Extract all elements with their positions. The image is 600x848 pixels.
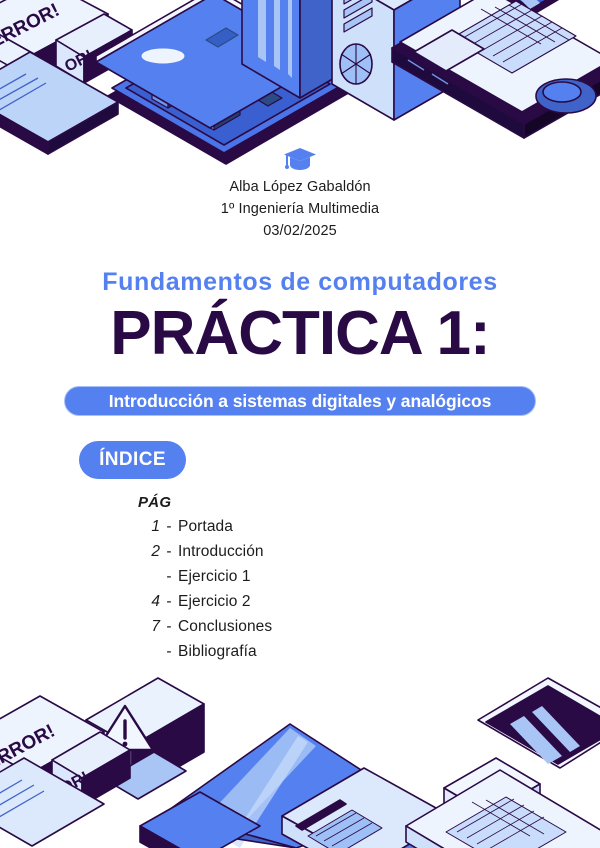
bottom-illustration-banner: ERROR! OR! — [0, 676, 600, 848]
list-item: 7 - Conclusiones — [136, 618, 456, 643]
course-title: Fundamentos de computadores — [0, 268, 600, 297]
header-block: Alba López Gabaldón 1º Ingeniería Multim… — [0, 146, 600, 242]
error-monitor-top: ERROR! OR! — [0, 0, 132, 154]
index-page-number: 2 — [136, 543, 160, 561]
index-entry-label: Introducción — [178, 543, 264, 561]
document-date: 03/02/2025 — [0, 220, 600, 242]
cover-page: ERROR! OR! — [0, 0, 600, 848]
index-dash: - — [160, 518, 178, 536]
index-entry-label: Ejercicio 2 — [178, 593, 251, 611]
index-dash: - — [160, 593, 178, 611]
index-page-number: 7 — [136, 618, 160, 636]
index-entry-label: Portada — [178, 518, 233, 536]
index-dash: - — [160, 543, 178, 561]
list-item: 1 - Portada — [136, 518, 456, 543]
index-entry-label: Ejercicio 1 — [178, 568, 251, 586]
index-entry-label: Conclusiones — [178, 618, 272, 636]
index-list: PÁG 1 - Portada 2 - Introducción - Ejerc… — [136, 494, 456, 668]
index-dash: - — [160, 618, 178, 636]
graduation-cap-icon — [283, 146, 317, 172]
author-name: Alba López Gabaldón — [0, 176, 600, 198]
list-item: - Bibliografía — [136, 643, 456, 668]
subtitle-badge: Introducción a sistemas digitales y anal… — [64, 386, 536, 416]
index-page-number: 4 — [136, 593, 160, 611]
list-item: 4 - Ejercicio 2 — [136, 593, 456, 618]
index-badge: ÍNDICE — [79, 441, 186, 479]
page-title: PRÁCTICA 1: — [0, 298, 600, 370]
index-dash: - — [160, 643, 178, 661]
list-item: 2 - Introducción — [136, 543, 456, 568]
page-column-header: PÁG — [136, 494, 456, 511]
index-dash: - — [160, 568, 178, 586]
index-page-number: 1 — [136, 518, 160, 536]
list-item: - Ejercicio 1 — [136, 568, 456, 593]
index-entry-label: Bibliografía — [178, 643, 257, 661]
program-name: 1º Ingeniería Multimedia — [0, 198, 600, 220]
